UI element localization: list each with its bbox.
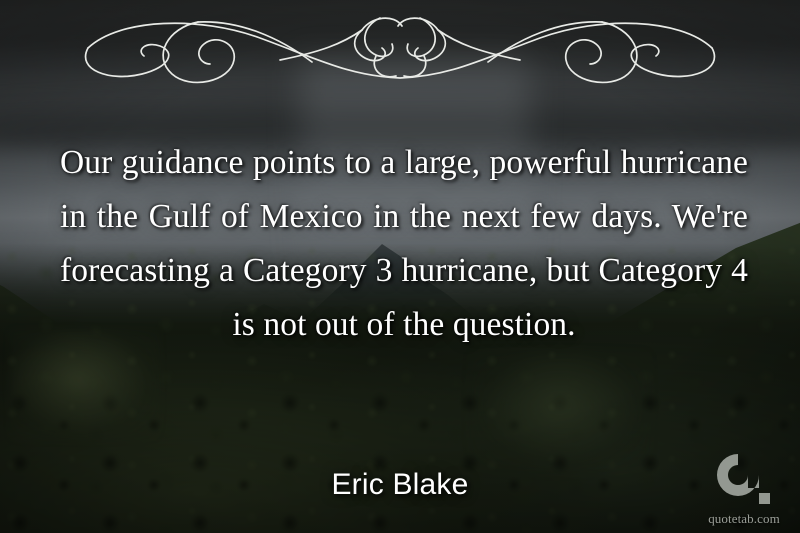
watermark[interactable]: quotetab.com — [698, 452, 790, 527]
watermark-site-label[interactable]: quotetab.com — [708, 511, 780, 527]
quote-author: Eric Blake — [0, 468, 800, 502]
quote-text: Our guidance points to a large, powerful… — [60, 136, 748, 352]
flourish-ornament-icon — [80, 12, 720, 88]
quotetab-q-logo-icon[interactable] — [715, 452, 773, 510]
quote-card: Our guidance points to a large, powerful… — [0, 0, 800, 533]
card-content: Our guidance points to a large, powerful… — [0, 0, 800, 533]
